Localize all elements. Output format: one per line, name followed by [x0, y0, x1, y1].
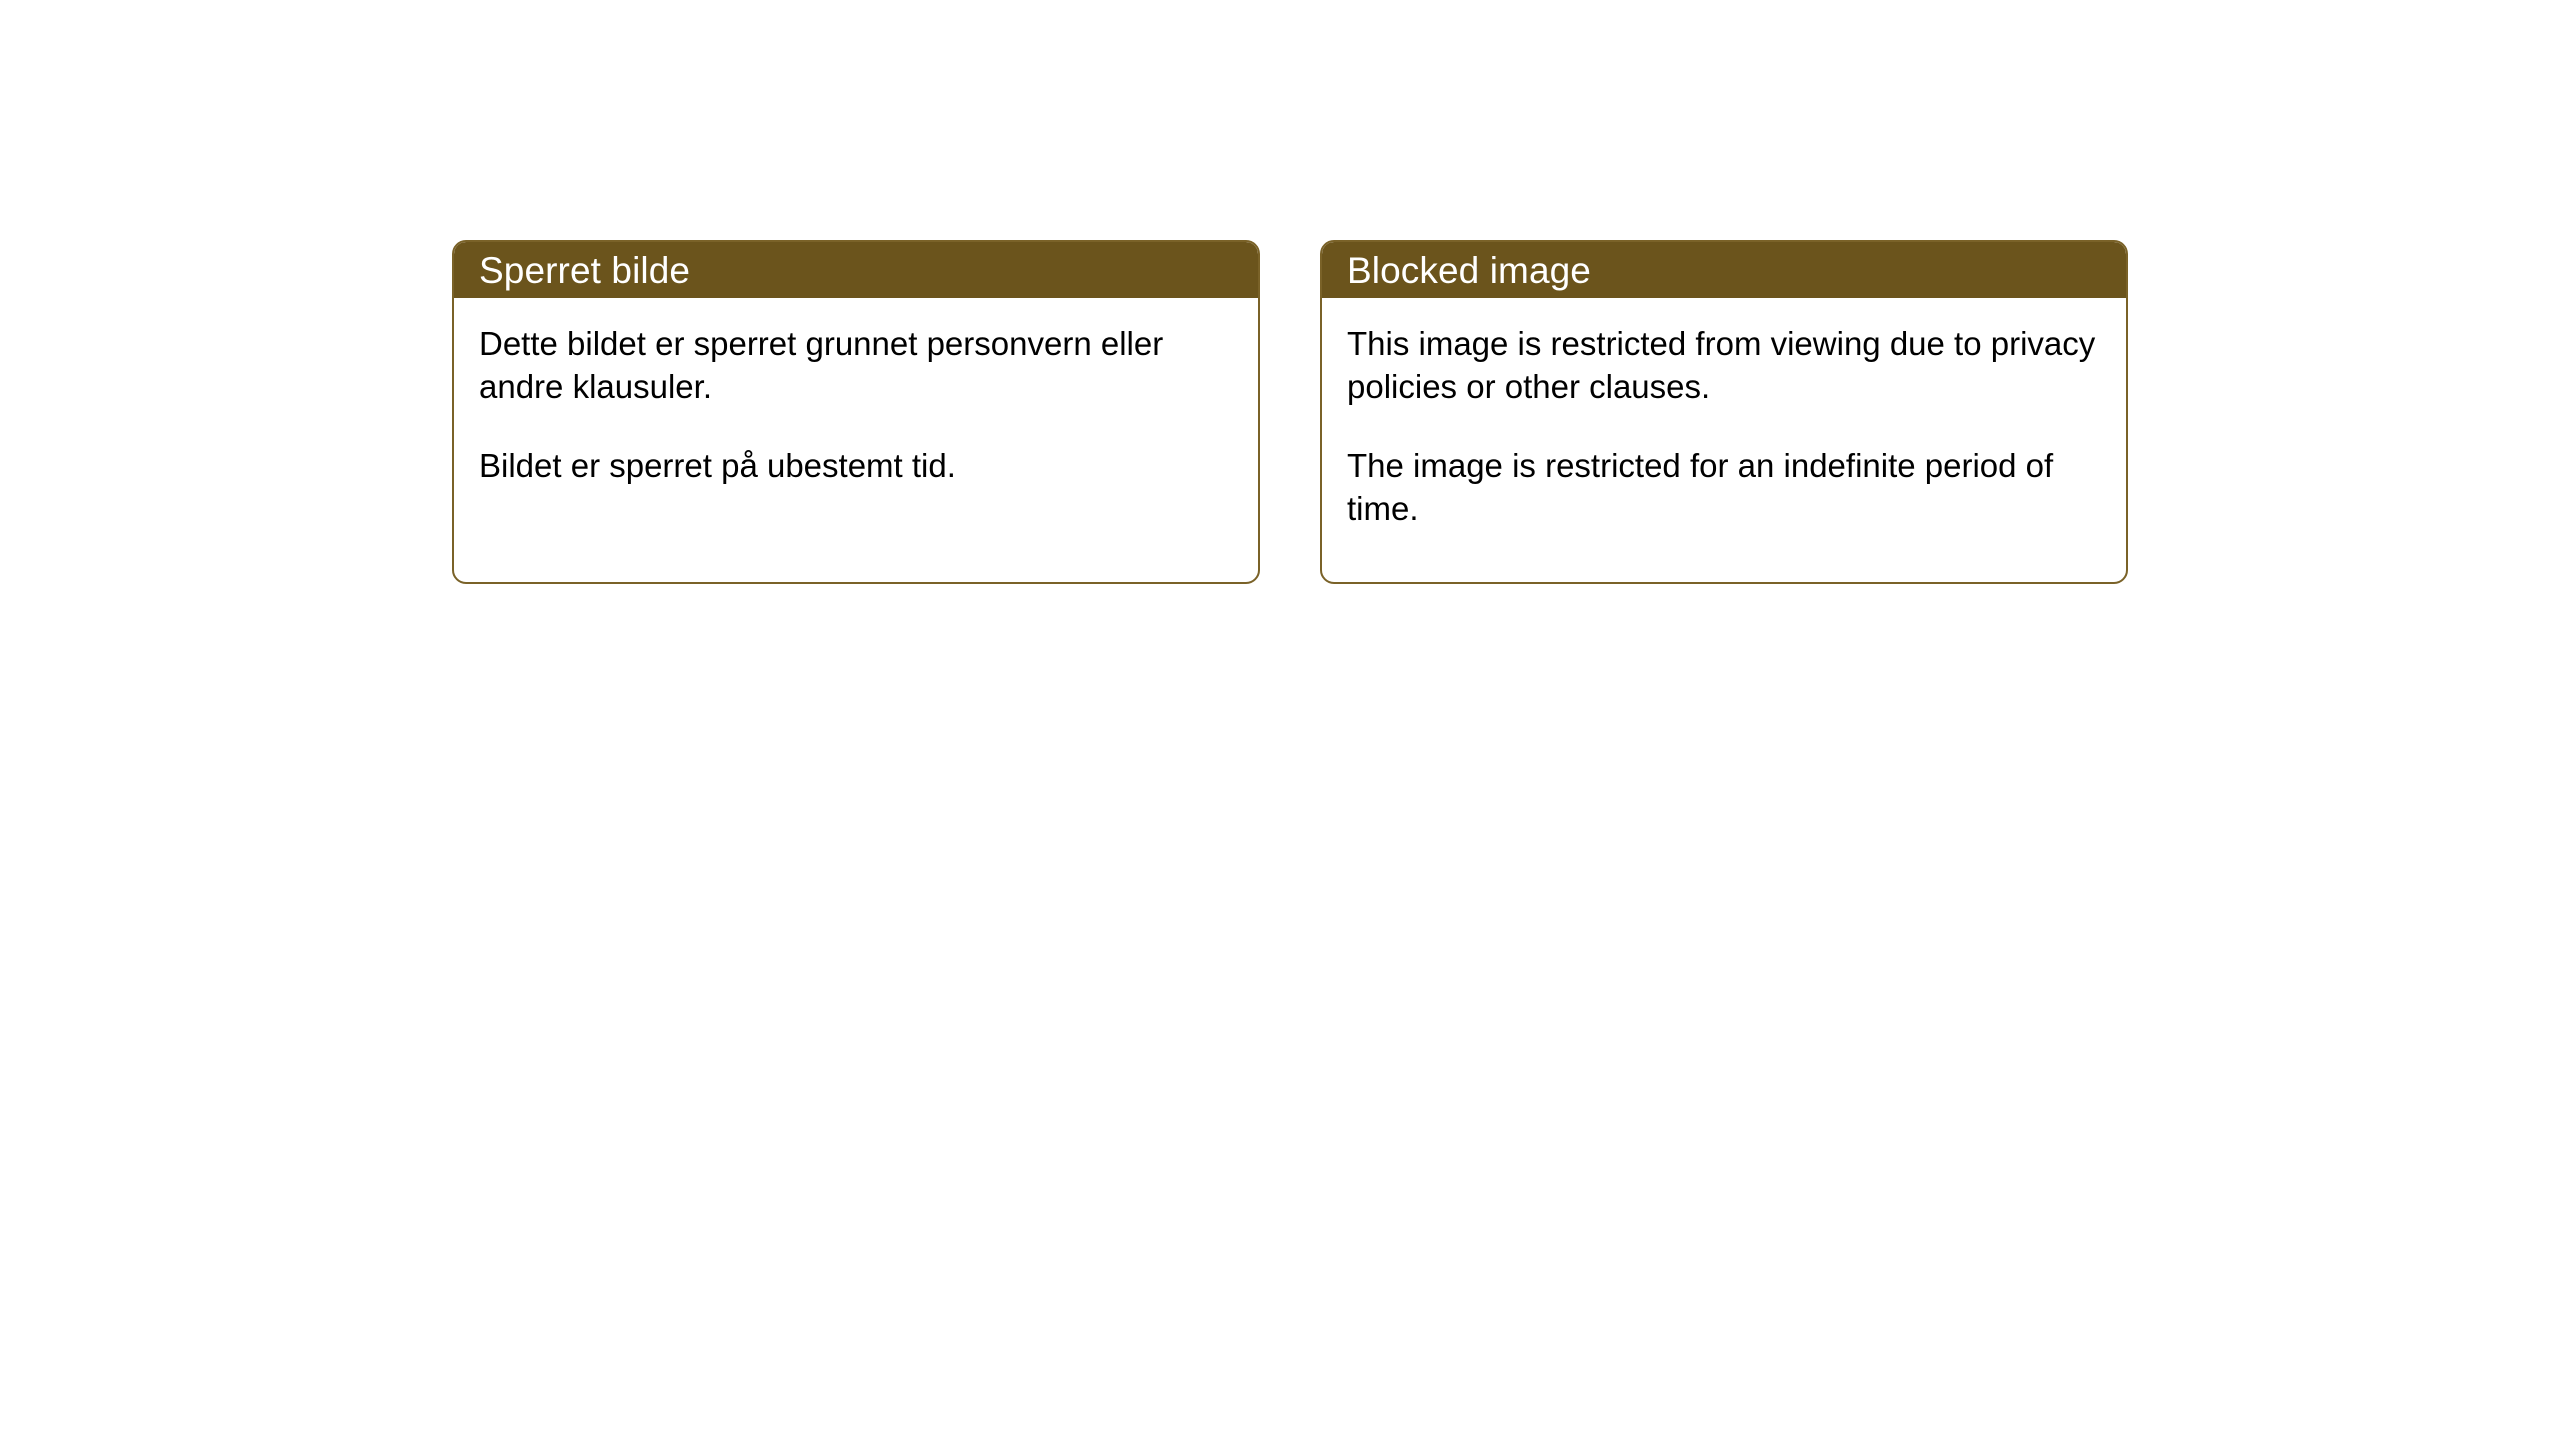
panel-title-english: Blocked image [1322, 252, 1591, 289]
blocked-image-panel-norwegian: Sperret bilde Dette bildet er sperret gr… [452, 240, 1260, 584]
panel-paragraph-english-2: The image is restricted for an indefinit… [1347, 444, 2100, 530]
blocked-image-notice-container: Sperret bilde Dette bildet er sperret gr… [0, 0, 2560, 1440]
panel-header-english: Blocked image [1322, 242, 2126, 298]
panel-header-norwegian: Sperret bilde [454, 242, 1258, 298]
panel-paragraph-norwegian-2: Bildet er sperret på ubestemt tid. [479, 444, 1232, 487]
blocked-image-panel-english: Blocked image This image is restricted f… [1320, 240, 2128, 584]
panel-title-norwegian: Sperret bilde [454, 252, 690, 289]
panel-paragraph-english-1: This image is restricted from viewing du… [1347, 322, 2100, 408]
panel-body-english: This image is restricted from viewing du… [1322, 298, 2126, 582]
panel-paragraph-norwegian-1: Dette bildet er sperret grunnet personve… [479, 322, 1232, 408]
panel-body-norwegian: Dette bildet er sperret grunnet personve… [454, 298, 1258, 582]
